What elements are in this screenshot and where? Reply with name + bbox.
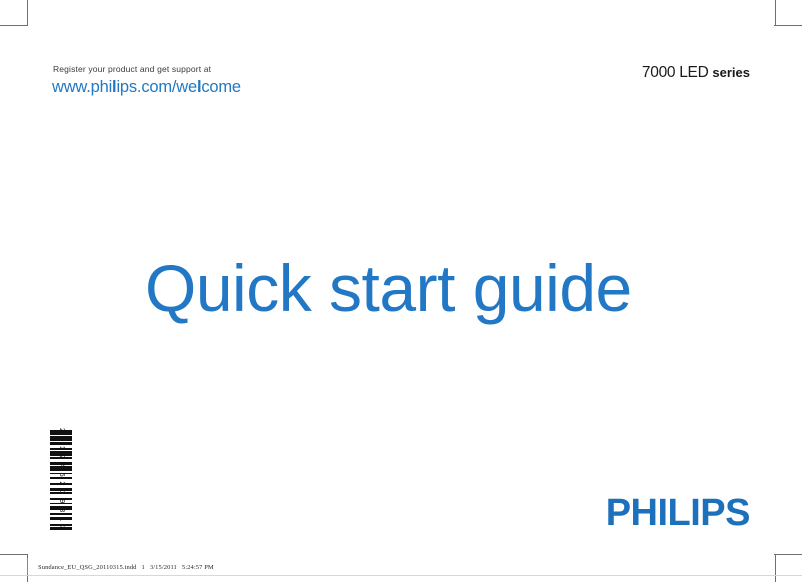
barcode-digit: 2 xyxy=(59,428,68,432)
crop-mark-bottom-right-vertical xyxy=(775,554,776,582)
footer-divider xyxy=(27,558,28,574)
barcode: 313912542122 xyxy=(48,428,86,534)
barcode-digits: 313912542122 xyxy=(56,428,70,530)
crop-mark-top-right-vertical xyxy=(775,0,776,26)
barcode-bar xyxy=(50,530,72,532)
barcode-digit: 2 xyxy=(59,437,68,441)
barcode-digit: 2 xyxy=(59,481,68,485)
philips-logo: PHILIPS xyxy=(606,492,750,535)
series-word: series xyxy=(712,65,750,80)
url-part-suffix: come xyxy=(201,78,241,96)
barcode-digit: 2 xyxy=(59,455,68,459)
crop-mark-top-left-horizontal xyxy=(0,25,28,26)
crop-mark-top-left-vertical xyxy=(27,0,28,26)
footer-time: 5:24:57 PM xyxy=(182,564,214,571)
footer-page-number: 1 xyxy=(142,564,145,571)
crop-mark-top-right-horizontal xyxy=(774,25,802,26)
register-product-text: Register your product and get support at xyxy=(53,64,211,74)
page-canvas: Register your product and get support at… xyxy=(0,0,802,582)
url-part-mid: ips.com/we xyxy=(116,78,197,96)
footer-date: 3/15/2011 xyxy=(150,564,177,571)
product-series-label: 7000 LED series xyxy=(642,64,750,82)
page-title: Quick start guide xyxy=(145,249,632,327)
barcode-digit: 3 xyxy=(59,508,68,512)
footer-print-info: Sundance_EU_QSG_20110315.indd13/15/20115… xyxy=(38,564,214,571)
barcode-digit: 4 xyxy=(59,464,68,468)
philips-welcome-url[interactable]: www.philips.com/welcome xyxy=(52,78,241,97)
series-model-number: 7000 LED xyxy=(642,64,709,81)
barcode-digit: 5 xyxy=(59,472,68,476)
barcode-digit: 1 xyxy=(59,490,68,494)
url-part-prefix: www.phi xyxy=(52,78,112,96)
crop-mark-bottom-left-horizontal xyxy=(0,554,28,555)
barcode-digit: 1 xyxy=(59,517,68,521)
barcode-digit: 9 xyxy=(59,499,68,503)
footer-filename: Sundance_EU_QSG_20110315.indd xyxy=(38,564,137,571)
barcode-digit: 3 xyxy=(59,526,68,530)
barcode-digit: 1 xyxy=(59,446,68,450)
page-bottom-rule xyxy=(0,575,802,576)
crop-mark-bottom-right-horizontal xyxy=(774,554,802,555)
